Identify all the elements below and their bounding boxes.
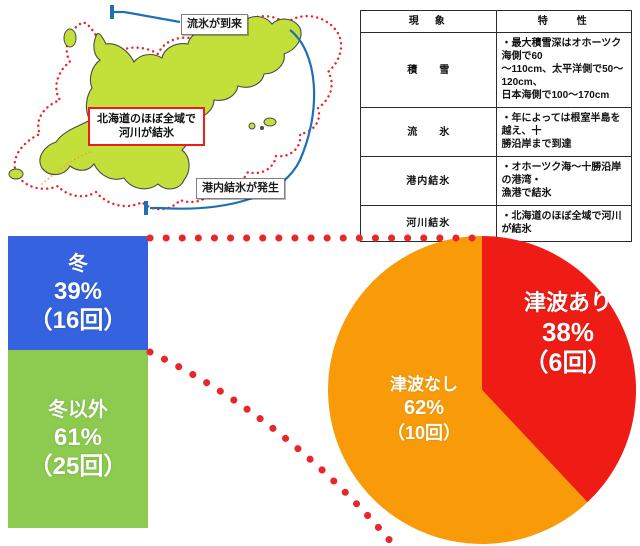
table-cell-desc: ・オホーツク海〜十勝沿岸の港湾・ 漁港で結氷 bbox=[496, 157, 632, 206]
pie-label-tsunami-no-percent: 62% bbox=[360, 396, 488, 421]
pie-label-tsunami-yes-count: （6回） bbox=[500, 348, 636, 379]
pie-label-tsunami-no-name: 津波なし bbox=[360, 373, 488, 396]
callout-river-ice: 北海道のほぼ全域で 河川が結氷 bbox=[88, 107, 205, 146]
bar-segment-winter-count: （16回） bbox=[29, 306, 128, 335]
map-islet-b bbox=[260, 126, 264, 130]
stacked-bar-chart: 冬 39% （16回） 冬以外 61% （25回） bbox=[8, 236, 148, 528]
table-cell-label: 流 氷 bbox=[361, 108, 497, 157]
table-cell-label: 積 雪 bbox=[361, 33, 497, 108]
map-islet-a bbox=[249, 123, 255, 129]
bar-segment-winter-name: 冬 bbox=[68, 252, 88, 277]
table-cell-label: 港内結氷 bbox=[361, 157, 497, 206]
bar-segment-non-winter-name: 冬以外 bbox=[48, 398, 108, 423]
callout-river-ice-line1: 北海道のほぼ全域で bbox=[97, 112, 196, 126]
table-row: 港内結氷 ・オホーツク海〜十勝沿岸の港湾・ 漁港で結氷 bbox=[361, 157, 632, 206]
pie-label-tsunami-yes: 津波あり 38% （6回） bbox=[500, 288, 636, 379]
pie-label-tsunami-no: 津波なし 62% （10回） bbox=[360, 373, 488, 445]
pie-label-tsunami-yes-name: 津波あり bbox=[500, 288, 636, 317]
bar-segment-non-winter-count: （25回） bbox=[29, 452, 128, 481]
table-row: 積 雪 ・最大積雪深はオホーツク海側で60 〜110cm、太平洋側で50〜120… bbox=[361, 33, 632, 108]
table-cell-desc: ・最大積雪深はオホーツク海側で60 〜110cm、太平洋側で50〜120cm、 … bbox=[496, 33, 632, 108]
table-header-characteristics: 特 性 bbox=[496, 11, 632, 33]
map-island-rishiri bbox=[64, 29, 76, 47]
pie-chart: 津波あり 38% （6回） 津波なし 62% （10回） bbox=[328, 236, 638, 546]
callout-harbor-ice: 港内結氷が発生 bbox=[196, 178, 285, 199]
pie-label-tsunami-yes-percent: 38% bbox=[500, 317, 636, 348]
hokkaido-map-panel: 流氷が到来 港内結氷が発生 北海道のほぼ全域で 河川が結氷 bbox=[0, 0, 355, 230]
phenomena-table: 現 象 特 性 積 雪 ・最大積雪深はオホーツク海側で60 〜110cm、太平洋… bbox=[360, 10, 632, 242]
table-header-row: 現 象 特 性 bbox=[361, 11, 632, 33]
bar-segment-non-winter-percent: 61% bbox=[54, 423, 102, 452]
bar-segment-non-winter: 冬以外 61% （25回） bbox=[8, 350, 148, 528]
bar-segment-winter-percent: 39% bbox=[54, 277, 102, 306]
hokkaido-landmass bbox=[40, 17, 301, 189]
table-row: 流 氷 ・年によっては根室半島を越え、十 勝沿岸まで到達 bbox=[361, 108, 632, 157]
map-islet-c bbox=[264, 118, 276, 126]
leader-drift-ice bbox=[124, 12, 180, 22]
infographic-root: 流氷が到来 港内結氷が発生 北海道のほぼ全域で 河川が結氷 現 象 特 性 積 … bbox=[0, 0, 640, 543]
pie-label-tsunami-no-count: （10回） bbox=[360, 421, 488, 445]
map-island-okushiri bbox=[9, 169, 23, 179]
callout-river-ice-line2: 河川が結氷 bbox=[97, 126, 196, 140]
table-header-phenomenon: 現 象 bbox=[361, 11, 497, 33]
table-cell-desc: ・年によっては根室半島を越え、十 勝沿岸まで到達 bbox=[496, 108, 632, 157]
bar-segment-winter: 冬 39% （16回） bbox=[8, 236, 148, 350]
callout-drift-ice: 流氷が到来 bbox=[181, 14, 248, 35]
